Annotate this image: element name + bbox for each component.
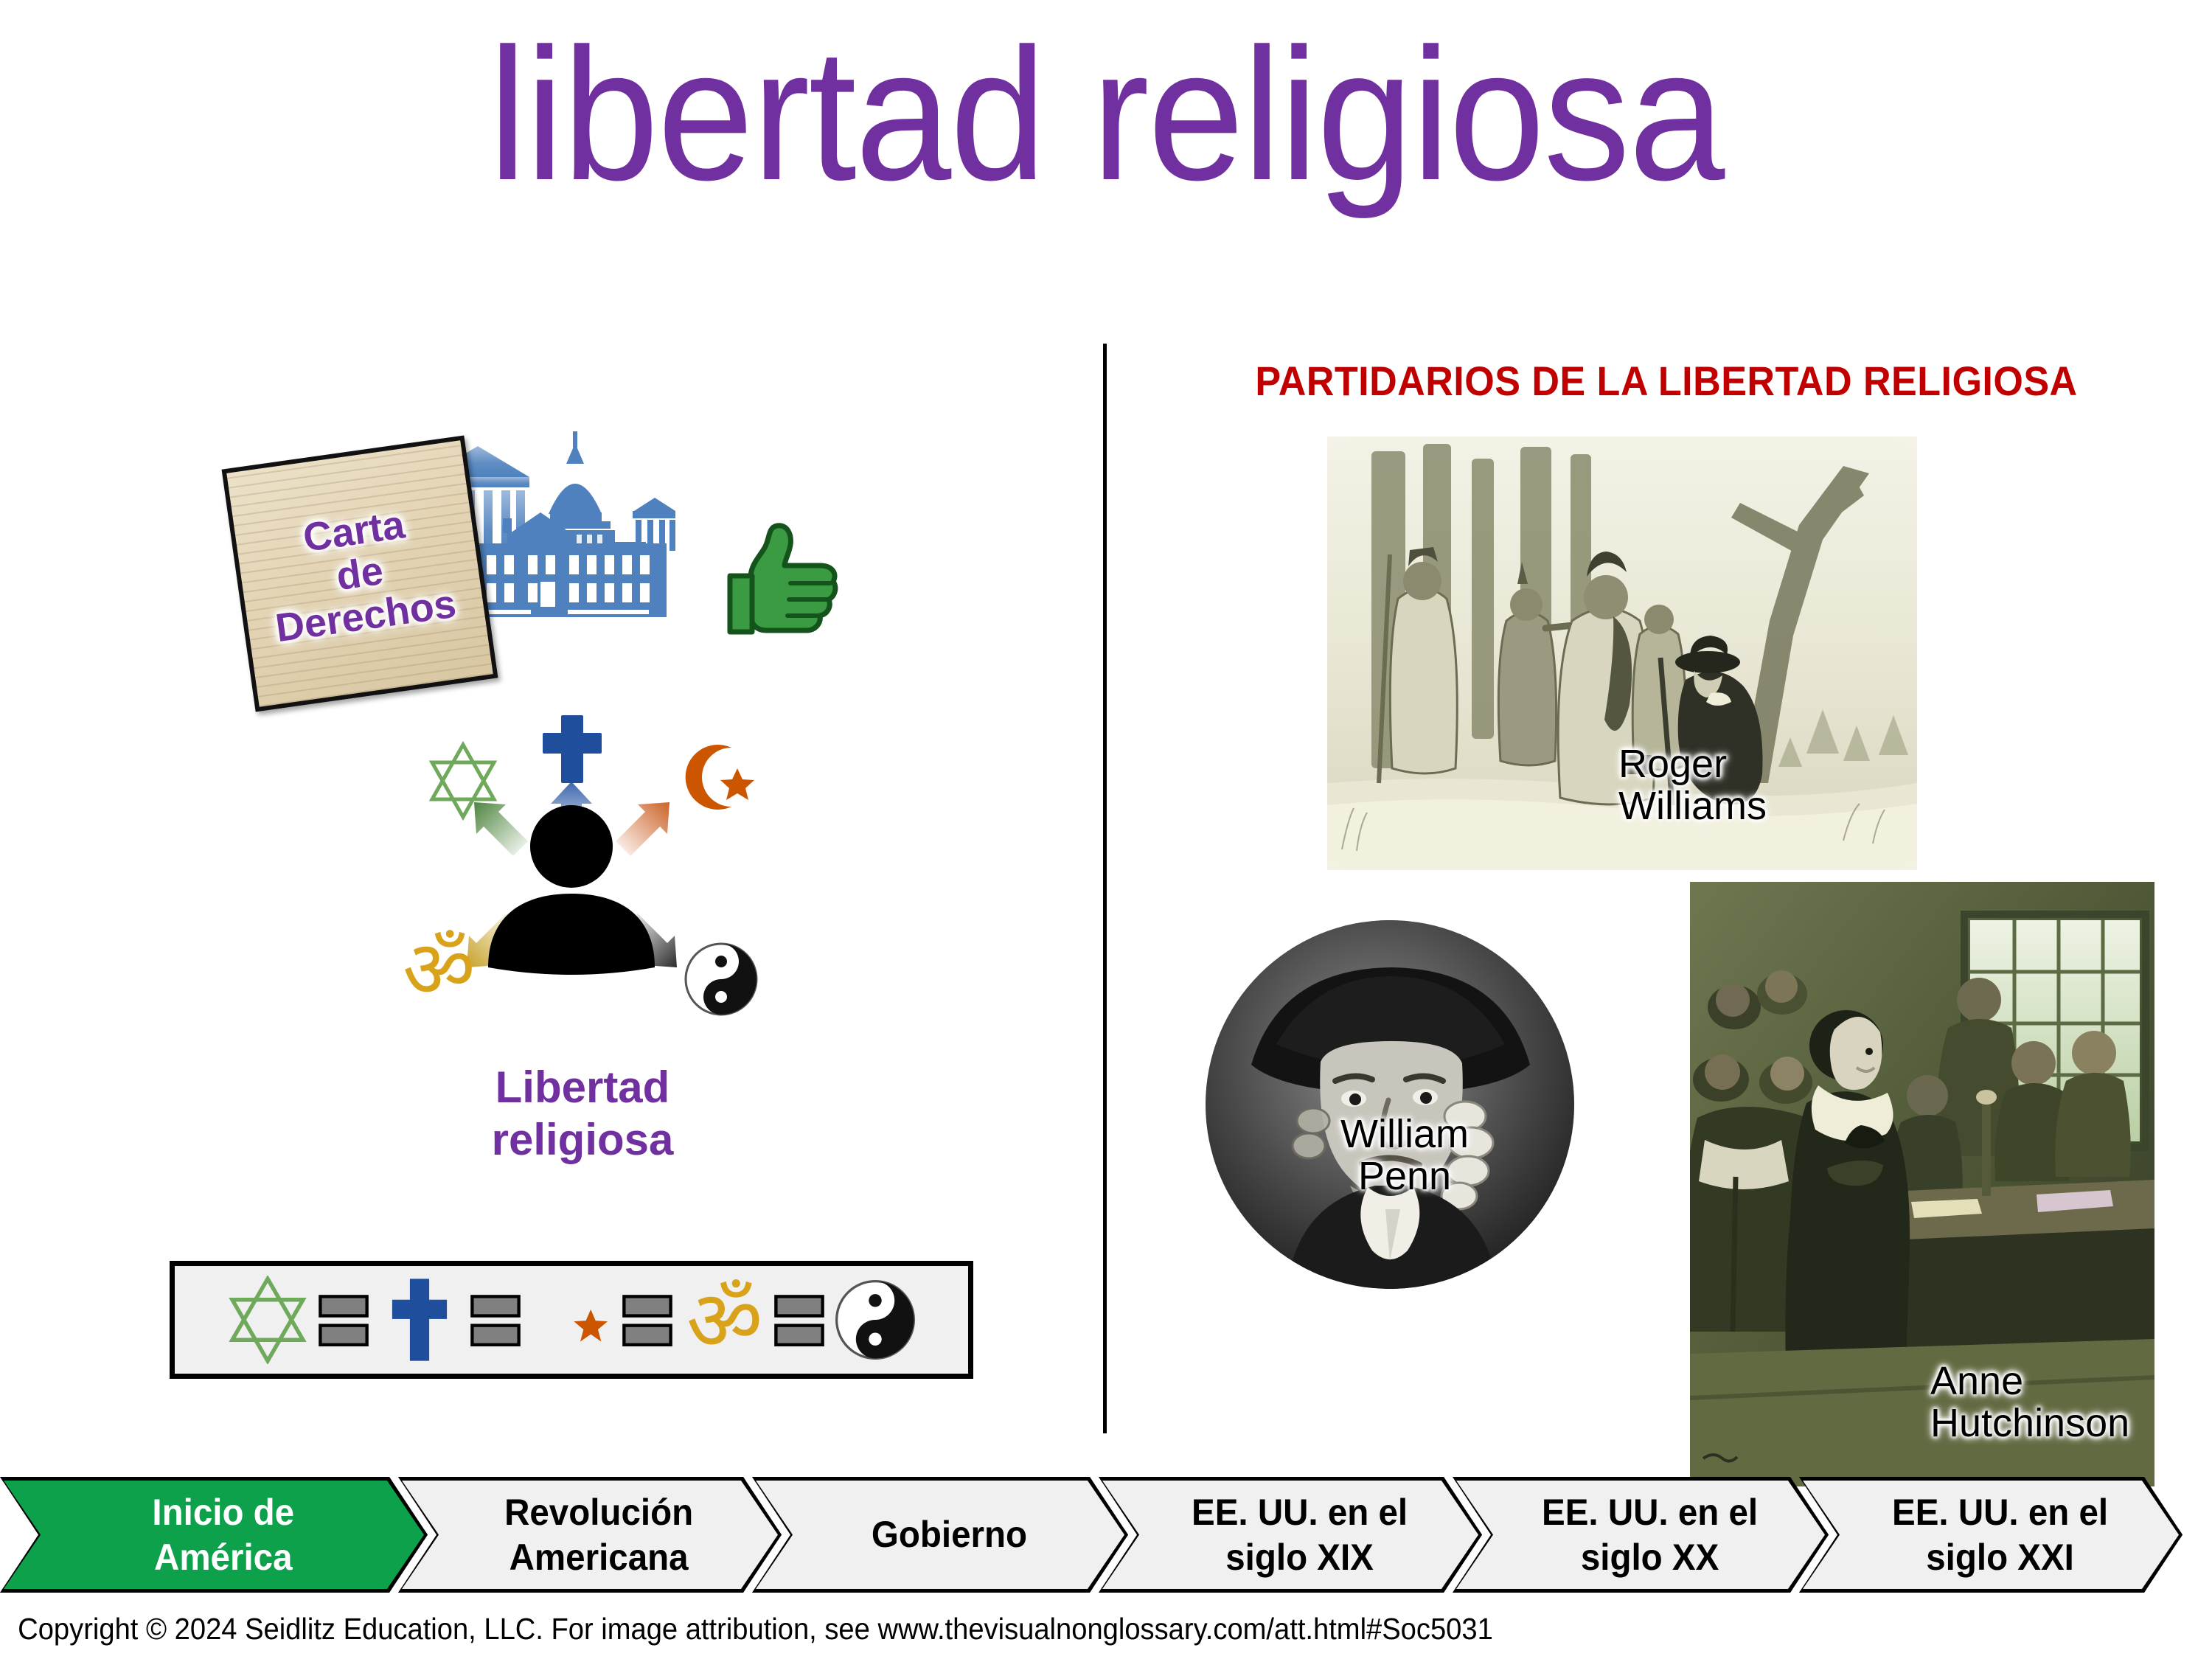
- diagram-label-line-2: religiosa: [354, 1114, 811, 1166]
- equals-sign: [771, 1276, 828, 1364]
- diagram-label: Libertad religiosa: [354, 1062, 811, 1166]
- om-icon: ॐ: [679, 1276, 768, 1364]
- timeline-item-revolucion-americana[interactable]: Revolución Americana: [398, 1477, 782, 1593]
- william-penn-image: [1206, 920, 1574, 1289]
- star-and-crescent-icon: [527, 1276, 616, 1364]
- timeline-item-inicio-de-america[interactable]: Inicio de América: [0, 1477, 428, 1593]
- svg-text:ॐ: ॐ: [686, 1276, 762, 1364]
- timeline-item-label: Revolución Americana: [487, 1490, 694, 1580]
- timeline-item-label: EE. UU. en el siglo XXI: [1874, 1490, 2108, 1580]
- thumbs-up-icon: [723, 520, 848, 649]
- christian-cross-icon: [375, 1276, 464, 1364]
- anne-hutchinson-caption: Anne Hutchinson: [1930, 1360, 2129, 1444]
- roger-williams-caption: Roger Williams: [1618, 743, 1767, 827]
- religious-freedom-diagram: ॐ: [354, 708, 811, 1062]
- william-penn-caption: William Penn: [1324, 1113, 1486, 1197]
- diagram-label-line-1: Libertad: [354, 1062, 811, 1114]
- religion-equality-row: ॐ: [170, 1261, 973, 1379]
- panel-divider: [1103, 344, 1107, 1433]
- christian-cross-icon: [543, 715, 602, 783]
- timeline-nav: Inicio de América Revolución Americana G…: [0, 1477, 2212, 1593]
- left-panel: Carta de Derechos: [0, 317, 1103, 1438]
- timeline-item-label: Inicio de América: [133, 1490, 293, 1580]
- bill-of-rights-line-1: Carta: [300, 503, 407, 560]
- arrow-up-right: [616, 802, 669, 856]
- timeline-item-gobierno[interactable]: Gobierno: [752, 1477, 1128, 1593]
- timeline-item-eeuu-siglo-xx[interactable]: EE. UU. en el siglo XX: [1453, 1477, 1829, 1593]
- poster-canvas: libertad religiosa: [0, 0, 2212, 1659]
- copyright-text: Copyright © 2024 Seidlitz Education, LLC…: [0, 1612, 1493, 1646]
- timeline-item-label: EE. UU. en el siglo XX: [1523, 1490, 1758, 1580]
- timeline-item-label: Gobierno: [853, 1512, 1027, 1557]
- timeline-item-eeuu-siglo-xix[interactable]: EE. UU. en el siglo XIX: [1099, 1477, 1482, 1593]
- yin-yang-icon: [831, 1276, 919, 1364]
- timeline-item-eeuu-siglo-xxi[interactable]: EE. UU. en el siglo XXI: [1799, 1477, 2183, 1593]
- star-of-david-icon: [223, 1276, 312, 1364]
- footer-bar: Copyright © 2024 Seidlitz Education, LLC…: [0, 1599, 2212, 1659]
- equals-sign: [619, 1276, 676, 1364]
- om-icon: ॐ: [403, 924, 476, 1016]
- bill-of-rights-line-2: de: [334, 549, 386, 599]
- bill-of-rights-card: Carta de Derechos: [222, 436, 498, 712]
- timeline-item-label: EE. UU. en el siglo XIX: [1173, 1490, 1408, 1580]
- page-title: libertad religiosa: [88, 21, 2124, 209]
- equals-sign: [315, 1276, 372, 1364]
- yin-yang-icon: [686, 944, 757, 1015]
- star-and-crescent-icon: [686, 745, 754, 810]
- svg-text:ॐ: ॐ: [403, 924, 476, 1016]
- supporters-heading: PARTIDARIOS DE LA LIBERTAD RELIGIOSA: [1186, 357, 2146, 405]
- arrow-up-left: [474, 802, 528, 856]
- equals-sign: [467, 1276, 524, 1364]
